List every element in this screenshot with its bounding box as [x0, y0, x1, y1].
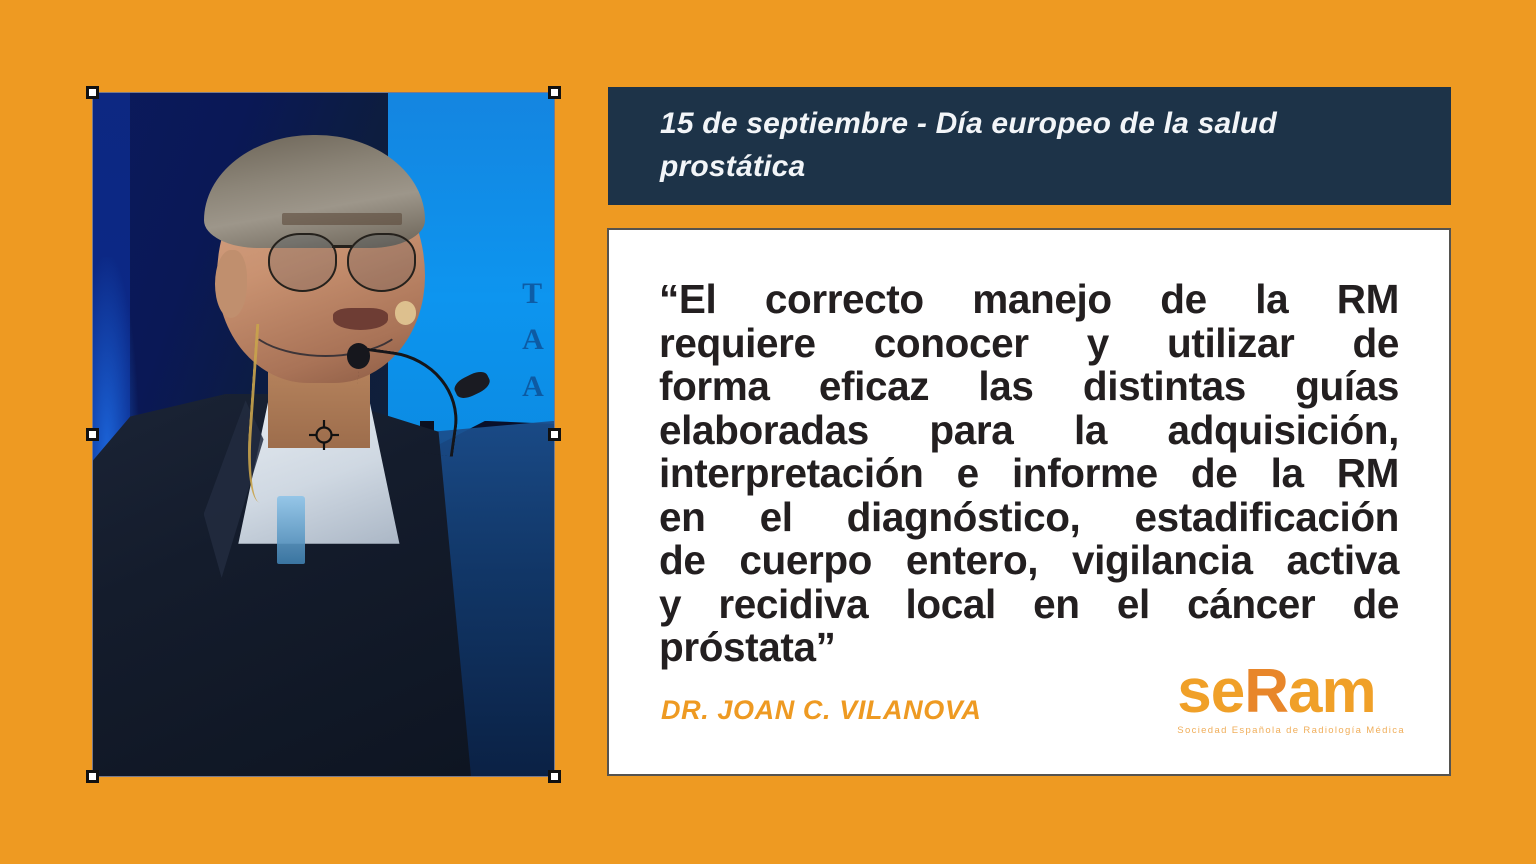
quote-line: de cuerpo entero, vigilancia activa [659, 539, 1399, 583]
quote-attribution: DR. JOAN C. VILANOVA [661, 695, 982, 726]
quote-line: elaboradas para la adquisición, [659, 409, 1399, 453]
seram-wordmark-part3: am [1288, 657, 1376, 726]
resize-handle-bottom-left[interactable] [86, 770, 99, 783]
resize-handle-middle-right[interactable] [548, 428, 561, 441]
seram-wordmark-part1: se [1177, 657, 1244, 726]
speaker-brow [282, 213, 402, 225]
mic-head-near [347, 343, 371, 369]
seram-logo-subtitle: Sociedad Española de Radiología Médica [1177, 725, 1405, 736]
quote-text: “El correcto manejo de la RMrequiere con… [659, 278, 1399, 670]
crosshair-move-icon[interactable] [309, 420, 339, 450]
headset-mic-capsule [395, 301, 416, 324]
header-title: 15 de septiembre - Día europeo de la sal… [660, 103, 1399, 188]
water-bottle [277, 496, 305, 564]
resize-handle-top-left[interactable] [86, 86, 99, 99]
seram-wordmark-part2: R [1244, 657, 1288, 726]
resize-handle-top-right[interactable] [548, 86, 561, 99]
quote-line: y recidiva local en el cáncer de [659, 583, 1399, 627]
quote-line: en el diagnóstico, estadificación [659, 496, 1399, 540]
seram-logo: seRam Sociedad Española de Radiología Mé… [1177, 663, 1405, 736]
podium-microphones [347, 339, 485, 489]
resize-handle-bottom-right[interactable] [548, 770, 561, 783]
quote-card: “El correcto manejo de la RMrequiere con… [607, 228, 1451, 776]
quote-line: “El correcto manejo de la RM [659, 278, 1399, 322]
selected-image-object[interactable]: TAA [93, 93, 554, 776]
resize-handle-middle-left[interactable] [86, 428, 99, 441]
quote-line: interpretación e informe de la RM [659, 452, 1399, 496]
glasses-bridge [332, 245, 353, 248]
header-band: 15 de septiembre - Día europeo de la sal… [608, 87, 1451, 205]
quote-line: forma eficaz las distintas guías [659, 365, 1399, 409]
seram-wordmark: seRam [1177, 663, 1405, 720]
quote-line: requiere conocer y utilizar de [659, 322, 1399, 366]
backdrop-letters: TAA [522, 271, 545, 411]
slide-canvas: TAA [0, 0, 1536, 864]
